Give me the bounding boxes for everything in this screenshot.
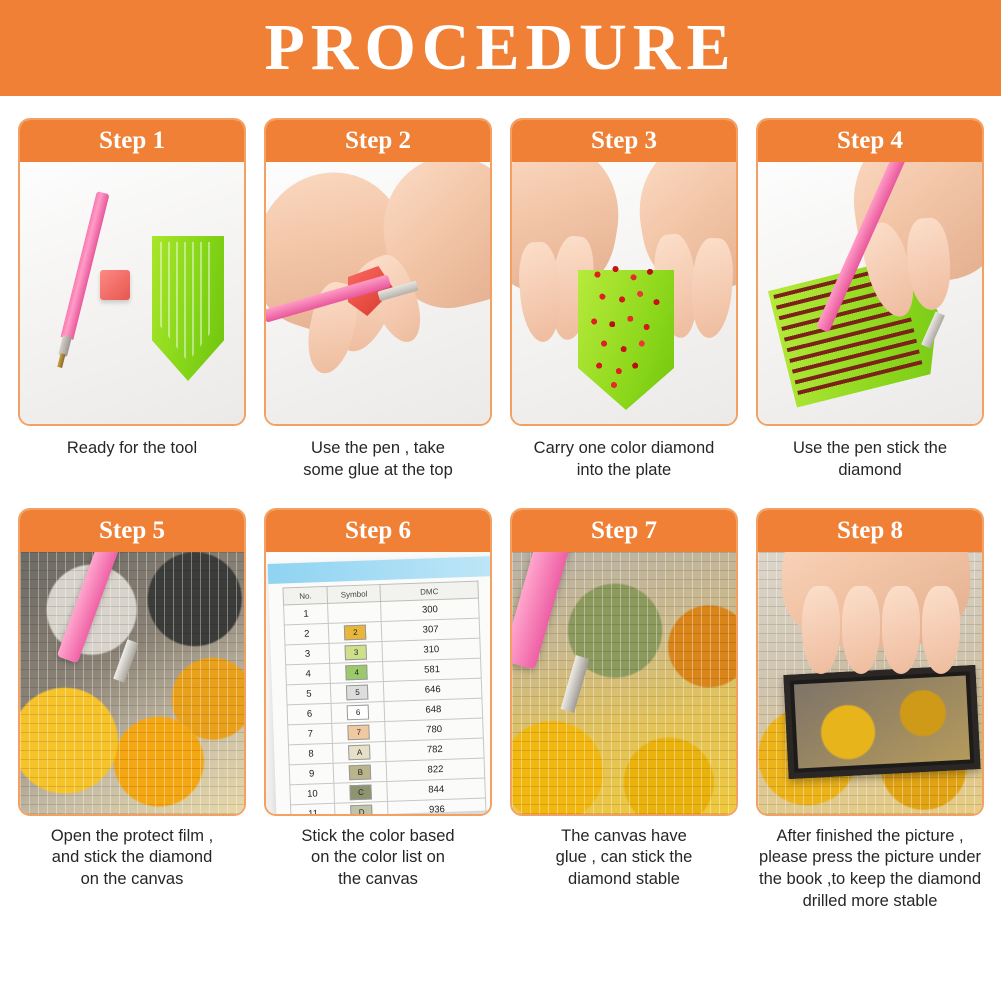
step-7-card: Step 7 bbox=[510, 508, 738, 816]
red-diamond-drills-icon bbox=[586, 258, 668, 396]
step-5-caption: Open the protect film , and stick the di… bbox=[14, 826, 250, 891]
step-6-caption: Stick the color based on the color list … bbox=[260, 826, 496, 891]
step-8-photo bbox=[758, 552, 982, 814]
step-2-photo bbox=[266, 162, 490, 424]
cell-dmc: 780 bbox=[385, 718, 483, 741]
step-7-caption: The canvas have glue , can stick the dia… bbox=[506, 826, 742, 891]
cell-symbol: D bbox=[335, 801, 388, 814]
color-swatch: 5 bbox=[346, 684, 369, 700]
cell-dmc: 782 bbox=[386, 738, 484, 761]
finger-icon bbox=[842, 586, 880, 674]
step-5-card: Step 5 bbox=[18, 508, 246, 816]
step-4-header: Step 4 bbox=[758, 120, 982, 162]
col-no: No. bbox=[283, 586, 328, 605]
cell-no: 9 bbox=[289, 763, 334, 785]
cell-dmc: 648 bbox=[384, 698, 482, 721]
color-chart-table: No. Symbol DMC 1300223073331044581556466… bbox=[282, 580, 488, 813]
cell-dmc: 822 bbox=[386, 758, 484, 781]
cell-no: 4 bbox=[286, 663, 331, 685]
step-6-photo: No. Symbol DMC 1300223073331044581556466… bbox=[266, 552, 490, 814]
step-6-card: Step 6 No. Symbol DMC 13002230 bbox=[264, 508, 492, 816]
cell-no: 3 bbox=[285, 643, 330, 665]
cell-symbol bbox=[328, 601, 381, 623]
step-3-card: Step 3 bbox=[510, 118, 738, 426]
step-4-photo bbox=[758, 162, 982, 424]
cell-dmc: 936 bbox=[388, 798, 486, 814]
step-7-title: Step 7 bbox=[591, 517, 657, 545]
cell-no: 8 bbox=[288, 743, 333, 765]
cell-symbol: 7 bbox=[332, 721, 385, 743]
color-swatch: 6 bbox=[347, 704, 370, 720]
step-2-title: Step 2 bbox=[345, 127, 411, 155]
step-6-title: Step 6 bbox=[345, 517, 411, 545]
cell-symbol: B bbox=[334, 761, 387, 783]
step-3-header: Step 3 bbox=[512, 120, 736, 162]
cell-symbol: 5 bbox=[331, 681, 384, 703]
step-3-caption: Carry one color diamond into the plate bbox=[506, 438, 742, 482]
step-6-header: Step 6 bbox=[266, 510, 490, 552]
page-title: PROCEDURE bbox=[264, 10, 736, 86]
step-5-photo bbox=[20, 552, 244, 814]
color-chart-body: 13002230733310445815564666648777808A7829… bbox=[284, 598, 489, 814]
cell-symbol: 6 bbox=[331, 701, 384, 723]
step-8-caption: After finished the picture , please pres… bbox=[752, 826, 988, 913]
cell-no: 2 bbox=[284, 623, 329, 645]
step-3-photo bbox=[512, 162, 736, 424]
color-swatch: C bbox=[350, 784, 373, 800]
finger-icon bbox=[802, 586, 840, 674]
finger-icon bbox=[922, 586, 960, 674]
step-4-caption: Use the pen stick the diamond bbox=[752, 438, 988, 482]
step-card-2: Step 2 Use the pen , take some glue at t… bbox=[260, 118, 496, 482]
color-chart-sheet: No. Symbol DMC 1300223073331044581556466… bbox=[268, 556, 490, 814]
step-card-1: Step 1 Ready for the tool bbox=[14, 118, 250, 482]
step-2-header: Step 2 bbox=[266, 120, 490, 162]
cell-no: 7 bbox=[288, 723, 333, 745]
book-icon bbox=[783, 665, 980, 779]
color-swatch: A bbox=[348, 744, 371, 760]
cell-dmc: 581 bbox=[383, 658, 481, 681]
cell-no: 11 bbox=[291, 803, 336, 814]
color-swatch: 2 bbox=[344, 624, 367, 640]
wax-square-icon bbox=[100, 270, 130, 300]
color-swatch: 7 bbox=[348, 724, 371, 740]
cell-symbol: 2 bbox=[329, 621, 382, 643]
step-8-title: Step 8 bbox=[837, 517, 903, 545]
step-5-title: Step 5 bbox=[99, 517, 165, 545]
cell-symbol: 3 bbox=[329, 641, 382, 663]
step-8-header: Step 8 bbox=[758, 510, 982, 552]
cell-symbol: 4 bbox=[330, 661, 383, 683]
step-card-3: Step 3 Carry one color diamond into the … bbox=[506, 118, 742, 482]
cell-no: 5 bbox=[286, 683, 331, 705]
step-4-title: Step 4 bbox=[837, 127, 903, 155]
step-4-card: Step 4 bbox=[756, 118, 984, 426]
step-1-photo bbox=[20, 162, 244, 424]
step-card-6: Step 6 No. Symbol DMC 13002230 bbox=[260, 508, 496, 913]
cell-dmc: 310 bbox=[382, 638, 480, 661]
color-swatch: 4 bbox=[346, 664, 369, 680]
cell-dmc: 307 bbox=[381, 618, 479, 641]
step-5-header: Step 5 bbox=[20, 510, 244, 552]
step-3-title: Step 3 bbox=[591, 127, 657, 155]
cell-symbol: C bbox=[334, 781, 387, 803]
step-2-caption: Use the pen , take some glue at the top bbox=[260, 438, 496, 482]
cell-no: 6 bbox=[287, 703, 332, 725]
step-card-8: Step 8 After finished the picture , plea… bbox=[752, 508, 988, 913]
step-8-card: Step 8 bbox=[756, 508, 984, 816]
step-1-card: Step 1 bbox=[18, 118, 246, 426]
col-symbol: Symbol bbox=[327, 584, 380, 603]
color-swatch: 3 bbox=[345, 644, 368, 660]
cell-dmc: 844 bbox=[387, 778, 485, 801]
drill-grid-icon bbox=[20, 552, 244, 814]
finger-icon bbox=[882, 586, 920, 674]
step-card-4: Step 4 Use the pen stick the diamond bbox=[752, 118, 988, 482]
step-card-5: Step 5 Open the protect film , and stick… bbox=[14, 508, 250, 913]
step-7-header: Step 7 bbox=[512, 510, 736, 552]
step-1-title: Step 1 bbox=[99, 127, 165, 155]
header-banner: PROCEDURE bbox=[0, 0, 1001, 96]
steps-grid: Step 1 Ready for the tool Step 2 bbox=[0, 96, 1001, 913]
step-1-caption: Ready for the tool bbox=[14, 438, 250, 460]
cell-no: 1 bbox=[284, 603, 329, 625]
cell-no: 10 bbox=[290, 783, 335, 805]
color-swatch: D bbox=[350, 804, 373, 814]
step-7-photo bbox=[512, 552, 736, 814]
color-swatch: B bbox=[349, 764, 372, 780]
step-2-card: Step 2 bbox=[264, 118, 492, 426]
cell-symbol: A bbox=[333, 741, 386, 763]
cell-dmc: 646 bbox=[384, 678, 482, 701]
step-1-header: Step 1 bbox=[20, 120, 244, 162]
step-card-7: Step 7 The canvas have glue , can stick … bbox=[506, 508, 742, 913]
cell-dmc: 300 bbox=[381, 598, 479, 621]
